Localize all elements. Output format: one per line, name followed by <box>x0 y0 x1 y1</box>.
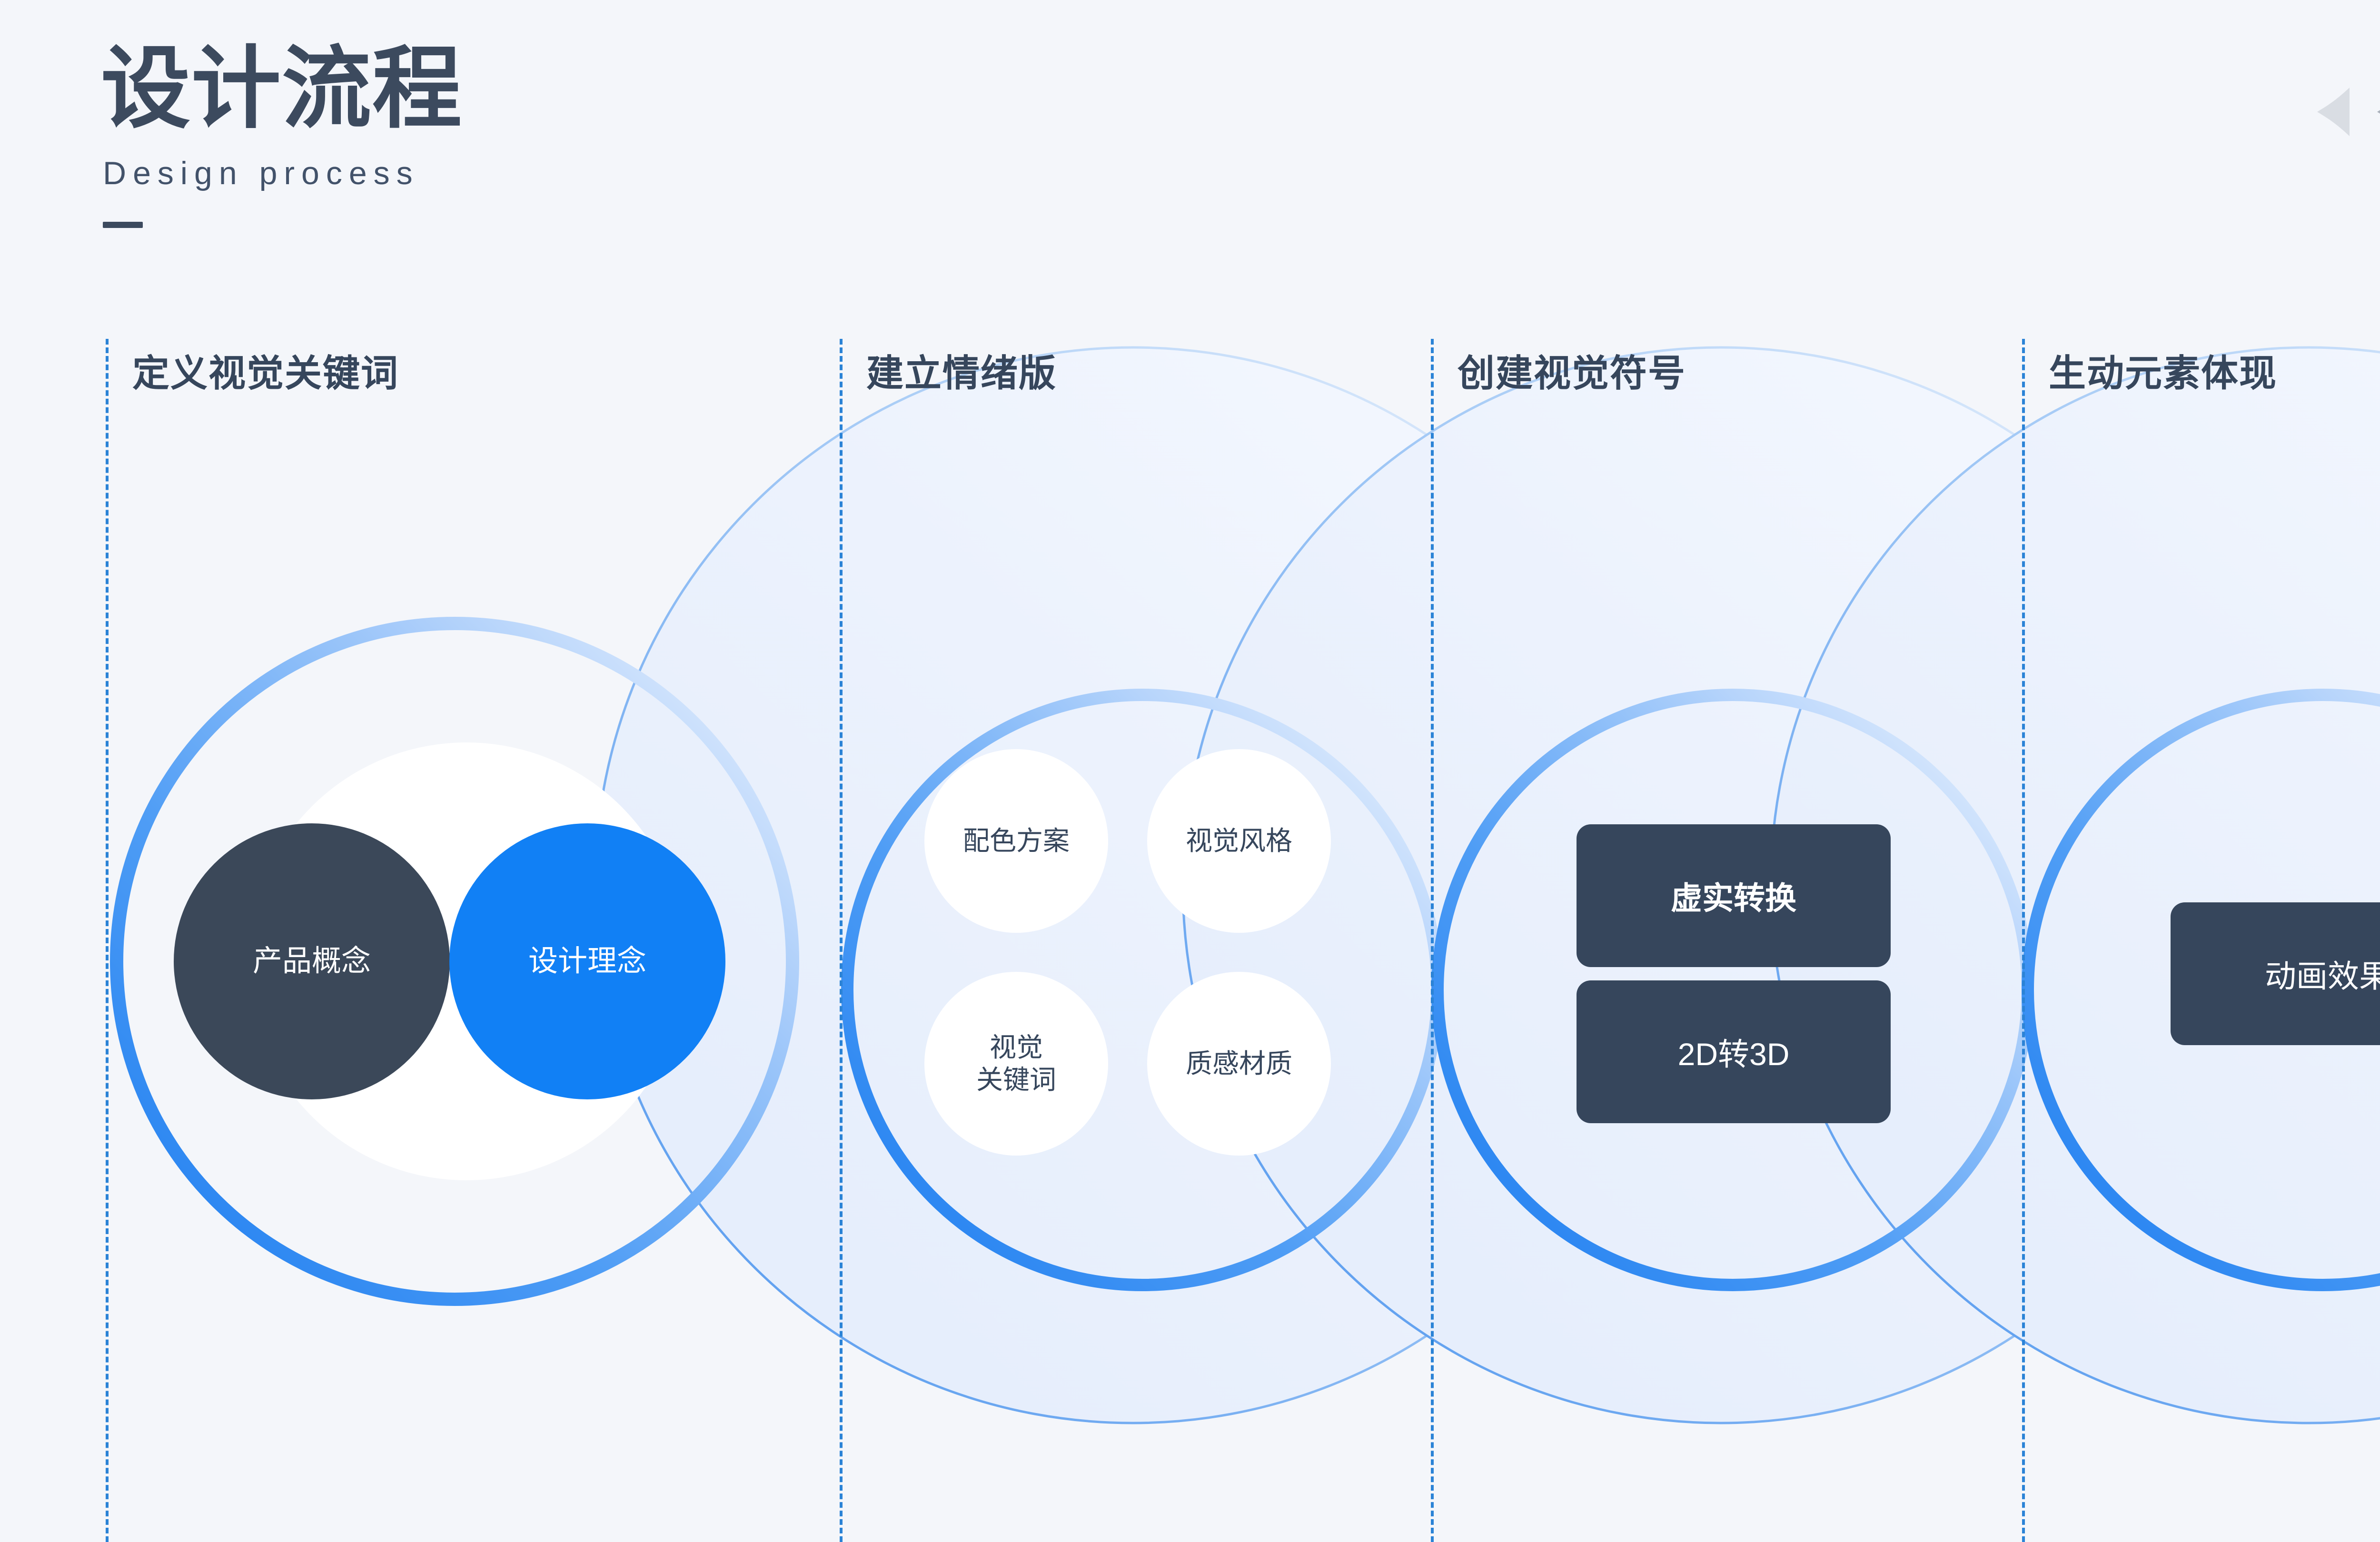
arrow-left-triangle-icon-1 <box>2315 86 2353 138</box>
accent-ring-col2 <box>847 695 1438 1285</box>
arrow-left-triangle-icon-2 <box>2375 86 2380 138</box>
node-animation-effect[interactable]: 动画效果 <box>2171 902 2380 1045</box>
node-product-concept[interactable]: 产品概念 <box>174 823 450 1099</box>
node-visual-style[interactable]: 视觉风格 <box>1147 749 1331 933</box>
page-subtitle: Design process <box>103 157 419 189</box>
column-header-build-mood-board: 建立情绪版 <box>866 344 1057 397</box>
column-divider-3 <box>1431 339 1434 1542</box>
column-header-define-visual-keywords: 定义视觉关键词 <box>132 344 399 397</box>
column-divider-2 <box>840 339 843 1542</box>
node-2d-to-3d[interactable]: 2D转3D <box>1577 980 1891 1123</box>
node-visual-keyword-line1: 视觉 <box>990 1031 1043 1064</box>
node-design-philosophy[interactable]: 设计理念 <box>449 823 725 1099</box>
node-virtual-real-conversion[interactable]: 虚实转换 <box>1577 824 1891 967</box>
column-divider-4 <box>2022 339 2025 1542</box>
page-title: 设计流程 <box>101 44 463 133</box>
node-visual-keyword-line2: 关键词 <box>976 1064 1056 1096</box>
node-texture-material[interactable]: 质感材质 <box>1147 972 1331 1156</box>
column-header-vivid-element-expression: 生动元素体现 <box>2049 344 2277 397</box>
node-color-scheme[interactable]: 配色方案 <box>924 749 1108 933</box>
column-header-create-visual-symbols: 创建视觉符号 <box>1458 344 1686 397</box>
node-visual-keyword[interactable]: 视觉 关键词 <box>924 972 1108 1156</box>
title-underline-rule <box>103 222 143 228</box>
slide-canvas: 设计流程 Design process 定义视觉关键词 建立情绪版 创建视觉符号… <box>0 0 2380 1542</box>
page-header: 设计流程 Design process <box>0 0 2380 267</box>
header-decoration <box>2315 67 2380 157</box>
column-divider-1 <box>106 339 109 1542</box>
pale-backdrop-circle-col2 <box>595 347 1671 1423</box>
